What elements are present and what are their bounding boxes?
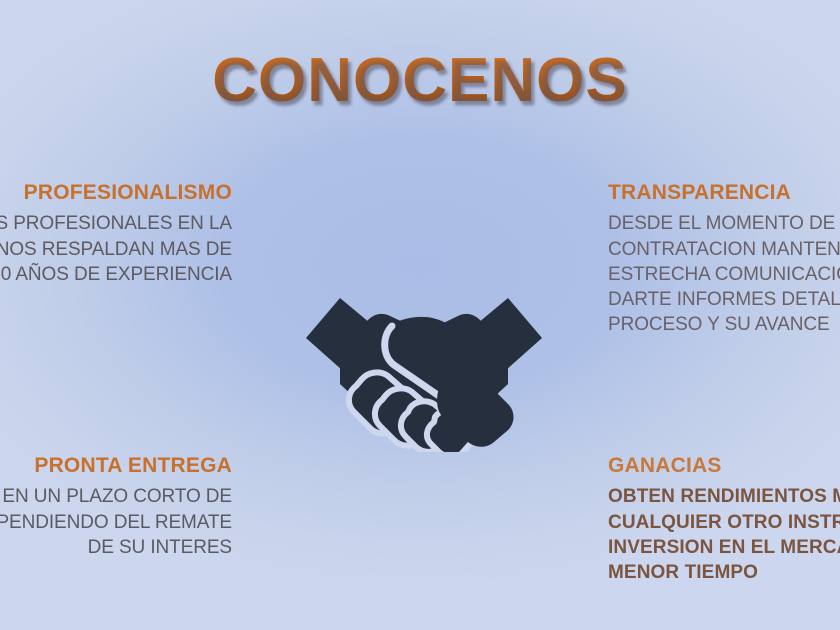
feature-heading-entrega: PRONTA ENTREGA bbox=[0, 453, 232, 479]
feature-heading-profesionalismo: PROFESIONALISMO bbox=[0, 180, 232, 206]
feature-text-line: INVERSION EN EL MERCADO Y EN bbox=[608, 535, 840, 560]
slide-canvas: CONOCENOS CONOCENOS PROFESIONALISMO SOMO… bbox=[0, 0, 840, 630]
feature-text-line: ESTRECHA COMUNICACION PARA bbox=[608, 262, 840, 287]
feature-text-line: SOMOS PROFESIONALES EN LA bbox=[0, 211, 232, 236]
feature-text-line: CONTRATACION MANTENEMOS UNA bbox=[608, 237, 840, 262]
feature-block-entrega: PRONTA ENTREGA RECIBE EN UN PLAZO CORTO … bbox=[0, 453, 232, 560]
feature-heading-transparencia: TRANSPARENCIA bbox=[608, 180, 840, 206]
handshake-icon bbox=[296, 280, 552, 452]
feature-text-line: RECIBE EN UN PLAZO CORTO DE bbox=[0, 484, 232, 509]
feature-text-line: CUALQUIER OTRO INSTRUMENTO DE bbox=[608, 510, 840, 535]
feature-block-ganacias: GANACIAS OBTEN RENDIMIENTOS MAYORES A CU… bbox=[608, 453, 840, 585]
feature-text-line: MENOR TIEMPO bbox=[608, 560, 840, 585]
feature-block-profesionalismo: PROFESIONALISMO SOMOS PROFESIONALES EN L… bbox=[0, 180, 232, 287]
feature-block-transparencia: TRANSPARENCIA DESDE EL MOMENTO DE LA CON… bbox=[608, 180, 840, 338]
feature-text-line: DE SU INTERES bbox=[0, 535, 232, 560]
feature-text-line: 20 AÑOS DE EXPERIENCIA bbox=[0, 262, 232, 287]
feature-text-line: DESDE EL MOMENTO DE LA bbox=[608, 211, 840, 236]
feature-text-line: DARTE INFORMES DETALLADOS DEL bbox=[608, 287, 840, 312]
feature-text-line: TIEMPO DEPENDIENDO DEL REMATE bbox=[0, 510, 232, 535]
feature-text-line: MATERIA NOS RESPALDAN MAS DE bbox=[0, 237, 232, 262]
feature-text-line: OBTEN RENDIMIENTOS MAYORES A bbox=[608, 484, 840, 509]
page-title: CONOCENOS bbox=[0, 48, 840, 113]
feature-text-line: PROCESO Y SU AVANCE bbox=[608, 312, 840, 337]
feature-heading-ganacias: GANACIAS bbox=[608, 453, 840, 479]
